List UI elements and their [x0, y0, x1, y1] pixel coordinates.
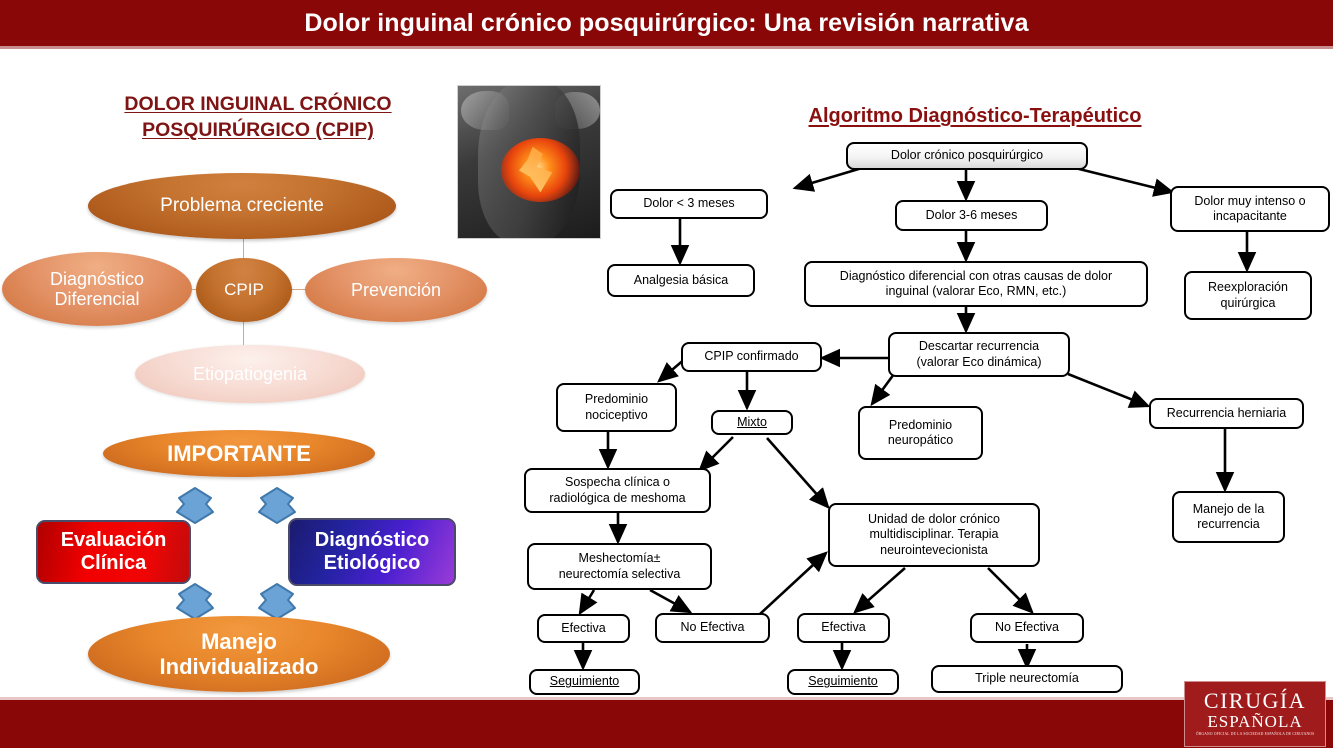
flow-node-triple-neurectomia-label: Triple neurectomía	[975, 671, 1079, 686]
hub-connector-right	[290, 289, 306, 290]
flow-node-reexploracion-line1: Reexploración	[1208, 280, 1288, 294]
flow-node-manejo-recurrencia-line2: recurrencia	[1197, 517, 1260, 531]
flow-node-predominio-neuro-line1: Predominio	[889, 418, 952, 432]
flow-node-analgesia-label: Analgesia básica	[634, 273, 729, 288]
journal-logo-line2: ESPAÑOLA	[1207, 712, 1302, 732]
flow-node-recurrencia-herniaria: Recurrencia herniaria	[1149, 398, 1304, 429]
flow-node-meshectomia-label: Meshectomía± neurectomía selectiva	[559, 551, 681, 582]
left-panel-title: DOLOR INGUINAL CRÓNICO POSQUIRÚRGICO (CP…	[88, 92, 428, 143]
hub-connector-bottom	[243, 318, 244, 348]
flow-node-predominio-neuro-line2: neuropático	[888, 433, 953, 447]
flow-node-dolor-menos-3-meses: Dolor < 3 meses	[610, 189, 768, 219]
hub-node-prevencion: Prevención	[305, 258, 487, 322]
hub-node-etiopatiogenia: Etiopatiogenia	[135, 345, 365, 403]
flow-node-recurrencia-herniaria-label: Recurrencia herniaria	[1167, 406, 1287, 421]
flow-node-diag-etio-label: Diagnóstico Etiológico	[315, 529, 429, 575]
flow-node-meshectomia-line2: neurectomía selectiva	[559, 567, 681, 581]
flow-node-dolor-intenso-label: Dolor muy intenso o incapacitante	[1194, 194, 1305, 225]
flow-node-descartar-line1: Descartar recurrencia	[919, 339, 1039, 353]
anatomy-illustration	[457, 85, 601, 239]
flow-node-manejo-individualizado: Manejo Individualizado	[88, 616, 390, 692]
flow-node-predominio-noci-line2: nociceptivo	[585, 408, 648, 422]
flow-node-no-efectiva-1: No Efectiva	[655, 613, 770, 643]
flow-node-importante-label: IMPORTANTE	[167, 441, 311, 467]
flow-node-descartar-label: Descartar recurrencia (valorar Eco dinám…	[916, 339, 1041, 370]
flow-node-mixto-label: Mixto	[737, 415, 767, 430]
flow-node-manejo-label: Manejo Individualizado	[160, 629, 319, 679]
hub-node-etiopatiogenia-label: Etiopatiogenia	[193, 364, 307, 384]
flowchart-title: Algoritmo Diagnóstico-Terapéutico	[770, 105, 1180, 128]
hub-node-prevencion-label: Prevención	[351, 280, 441, 300]
flow-node-meshectomia: Meshectomía± neurectomía selectiva	[527, 543, 712, 590]
flow-node-dx-diferencial-line1: Diagnóstico diferencial con otras causas…	[840, 269, 1112, 283]
flow-node-diagnostico-etiologico: Diagnóstico Etiológico	[288, 518, 456, 586]
flow-node-diag-etio-line2: Etiológico	[324, 552, 421, 574]
flow-node-sospecha-line2: radiológica de meshoma	[549, 491, 685, 505]
flow-node-no-efectiva-2-label: No Efectiva	[995, 620, 1059, 635]
flow-node-root: Dolor crónico posquirúrgico	[846, 142, 1088, 170]
flow-node-dolor-menos-3-label: Dolor < 3 meses	[643, 196, 734, 211]
flow-node-unidad-line1: Unidad de dolor crónico	[868, 512, 1000, 526]
flow-node-dolor-3-6-label: Dolor 3-6 meses	[926, 208, 1018, 223]
flow-node-cpip-confirmado: CPIP confirmado	[681, 342, 822, 372]
flow-node-reexploracion-label: Reexploración quirúrgica	[1208, 280, 1288, 311]
flow-node-importante: IMPORTANTE	[103, 430, 375, 477]
left-panel-title-line2: POSQUIRÚRGICO (CPIP)	[142, 119, 374, 141]
flow-node-manejo-recurrencia-line1: Manejo de la	[1193, 502, 1265, 516]
flow-node-predominio-noci-label: Predominio nociceptivo	[585, 392, 648, 423]
flow-node-no-efectiva-1-label: No Efectiva	[681, 620, 745, 635]
flow-node-predominio-neuropatico: Predominio neuropático	[858, 406, 983, 460]
flow-node-manejo-line1: Manejo	[201, 629, 277, 654]
hub-node-problema-label: Problema creciente	[160, 195, 324, 216]
hub-node-diagnostico-line2: Diferencial	[54, 289, 139, 309]
hub-node-cpip: CPIP	[196, 258, 292, 322]
flow-node-reexploracion-line2: quirúrgica	[1221, 296, 1276, 310]
flow-node-unidad-line2: multidisciplinar. Terapia	[870, 527, 999, 541]
header-divider	[0, 46, 1333, 49]
flow-node-dolor-3-6-meses: Dolor 3-6 meses	[895, 200, 1048, 231]
flow-node-unidad-label: Unidad de dolor crónico multidisciplinar…	[868, 512, 1000, 558]
flow-node-unidad-dolor-cronico: Unidad de dolor crónico multidisciplinar…	[828, 503, 1040, 567]
flow-node-efectiva-2: Efectiva	[797, 613, 890, 643]
flow-node-evaluacion-clinica: Evaluación Clínica	[36, 520, 191, 584]
flow-node-evaluacion-label: Evaluación Clínica	[61, 529, 167, 575]
flow-node-seguimiento-2-label: Seguimiento	[808, 674, 878, 689]
flow-node-predominio-noci-line1: Predominio	[585, 392, 648, 406]
flow-node-dolor-intenso-line1: Dolor muy intenso o	[1194, 194, 1305, 208]
journal-logo-subtitle: ÓRGANO OFICIAL DE LA SOCIEDAD ESPAÑOLA D…	[1196, 732, 1315, 738]
hub-node-diagnostico-line1: Diagnóstico	[50, 269, 144, 289]
flow-node-reexploracion-quirurgica: Reexploración quirúrgica	[1184, 271, 1312, 320]
flow-node-meshectomia-line1: Meshectomía±	[579, 551, 661, 565]
hub-node-diagnostico-diferencial: Diagnóstico Diferencial	[2, 252, 192, 326]
flow-node-predominio-nociceptivo: Predominio nociceptivo	[556, 383, 677, 432]
journal-logo-line1: CIRUGÍA	[1204, 690, 1306, 712]
hub-node-cpip-label: CPIP	[224, 280, 264, 299]
flow-node-dolor-muy-intenso: Dolor muy intenso o incapacitante	[1170, 186, 1330, 232]
flow-node-root-label: Dolor crónico posquirúrgico	[891, 148, 1043, 163]
flow-node-predominio-neuro-label: Predominio neuropático	[888, 418, 953, 449]
flow-node-manejo-recurrencia: Manejo de la recurrencia	[1172, 491, 1285, 543]
flow-node-unidad-line3: neurointevecionista	[880, 543, 988, 557]
flow-node-cpip-confirmado-label: CPIP confirmado	[704, 349, 798, 364]
flow-node-dolor-intenso-line2: incapacitante	[1213, 209, 1287, 223]
flow-node-dx-diferencial-label: Diagnóstico diferencial con otras causas…	[840, 269, 1112, 300]
flow-node-sospecha-meshoma: Sospecha clínica o radiológica de meshom…	[524, 468, 711, 513]
flow-node-seguimiento-2: Seguimiento	[787, 669, 899, 695]
flow-node-dx-diferencial-line2: inguinal (valorar Eco, RMN, etc.)	[886, 284, 1067, 298]
flow-node-seguimiento-1-label: Seguimiento	[550, 674, 620, 689]
flow-node-sospecha-label: Sospecha clínica o radiológica de meshom…	[549, 475, 685, 506]
flow-node-efectiva-1: Efectiva	[537, 614, 630, 643]
hub-node-diagnostico-label: Diagnóstico Diferencial	[50, 269, 144, 309]
chevron-arrow-down-left-bottom	[173, 578, 217, 622]
flow-node-efectiva-1-label: Efectiva	[561, 621, 605, 636]
flow-node-evaluacion-line1: Evaluación	[61, 529, 167, 551]
footer-bar	[0, 700, 1333, 748]
flow-node-manejo-line2: Individualizado	[160, 654, 319, 679]
flow-node-mixto: Mixto	[711, 410, 793, 435]
flow-node-no-efectiva-2: No Efectiva	[970, 613, 1084, 643]
hub-node-problema-creciente: Problema creciente	[88, 173, 396, 239]
slide-title: Dolor inguinal crónico posquirúrgico: Un…	[0, 0, 1333, 46]
left-panel-title-line1: DOLOR INGUINAL CRÓNICO	[124, 93, 391, 115]
flow-node-analgesia-basica: Analgesia básica	[607, 264, 755, 297]
flow-node-descartar-line2: (valorar Eco dinámica)	[916, 355, 1041, 369]
journal-logo: CIRUGÍA ESPAÑOLA ÓRGANO OFICIAL DE LA SO…	[1184, 681, 1326, 747]
flow-node-seguimiento-1: Seguimiento	[529, 669, 640, 695]
flow-node-manejo-recurrencia-label: Manejo de la recurrencia	[1193, 502, 1265, 533]
flow-node-efectiva-2-label: Efectiva	[821, 620, 865, 635]
flow-node-evaluacion-line2: Clínica	[81, 552, 147, 574]
flow-node-sospecha-line1: Sospecha clínica o	[565, 475, 670, 489]
flow-node-diagnostico-diferencial: Diagnóstico diferencial con otras causas…	[804, 261, 1148, 307]
chevron-arrow-down-right-bottom	[255, 578, 299, 622]
flow-node-triple-neurectomia: Triple neurectomía	[931, 665, 1123, 693]
flow-node-diag-etio-line1: Diagnóstico	[315, 529, 429, 551]
flow-node-descartar-recurrencia: Descartar recurrencia (valorar Eco dinám…	[888, 332, 1070, 377]
